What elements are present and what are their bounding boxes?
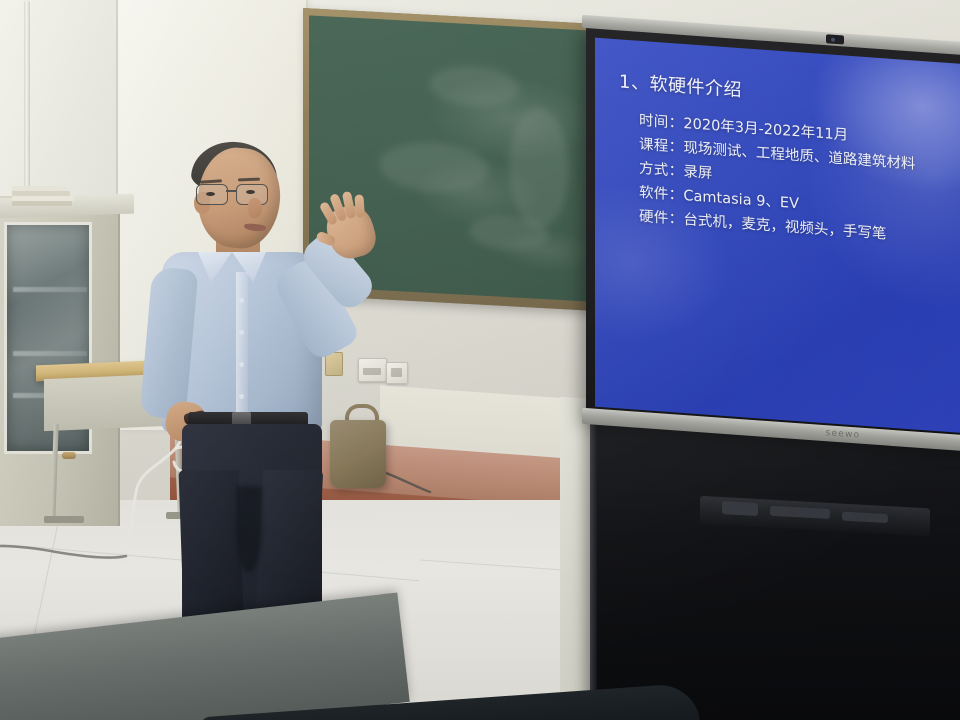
slide-line-time-label: 时间： (639, 113, 683, 132)
classroom-photo-scene: 1、软硬件介绍 时间：2020年3月-2022年11月 课程：现场测试、工程地质… (0, 0, 960, 720)
eye-left (206, 192, 215, 196)
stand-cable-tray (700, 496, 930, 536)
display-stand (590, 408, 960, 720)
camera-icon (826, 34, 844, 44)
display-bezel: 1、软硬件介绍 时间：2020年3月-2022年11月 课程：现场测试、工程地质… (586, 26, 960, 446)
cabinet-handle[interactable] (62, 452, 76, 459)
interactive-flat-panel-display[interactable]: 1、软硬件介绍 时间：2020年3月-2022年11月 课程：现场测试、工程地质… (586, 26, 960, 446)
slide-line-hardware-label: 硬件： (639, 209, 683, 228)
stack-of-books (12, 186, 74, 208)
slide-title: 1、软硬件介绍 (619, 67, 742, 102)
shirt-placket (236, 272, 248, 432)
nose (248, 198, 262, 218)
eye-right (246, 190, 255, 194)
slide-line-course-label: 课程： (639, 137, 683, 156)
slide-line-method-value: 录屏 (683, 164, 712, 182)
wall-pipe (24, 0, 30, 190)
slide-line-software-label: 软件： (639, 185, 683, 204)
desk-foot-left (44, 516, 84, 523)
display-screen[interactable]: 1、软硬件介绍 时间：2020年3月-2022年11月 课程：现场测试、工程地质… (595, 38, 960, 434)
trouser-shadow (236, 486, 262, 572)
stand-left-edge (590, 408, 597, 720)
slide-body: 时间：2020年3月-2022年11月 课程：现场测试、工程地质、道路建筑材料 … (639, 109, 960, 253)
slide-line-method-label: 方式： (639, 161, 683, 180)
